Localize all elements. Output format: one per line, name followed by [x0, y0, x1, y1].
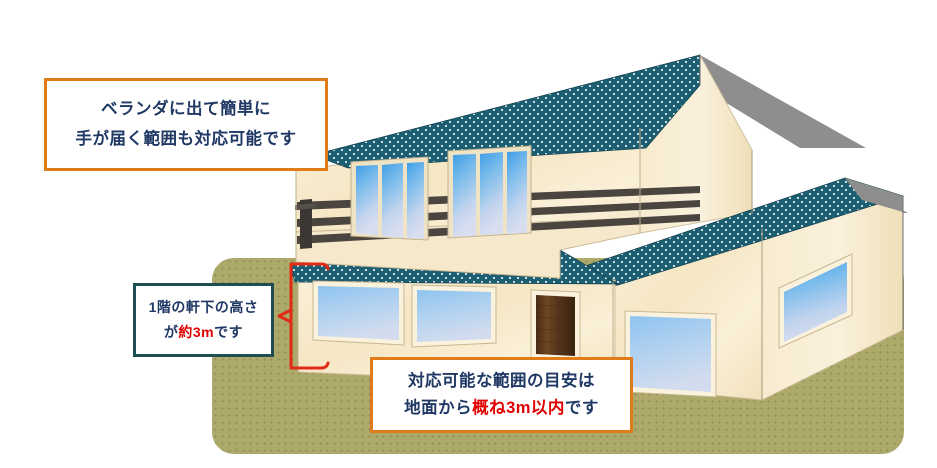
callout-balcony-reach[interactable]: ベランダに出て簡単に 手が届く範囲も対応可能です — [44, 78, 328, 171]
ground-window-right-front — [625, 311, 716, 397]
height-measure-bracket — [277, 258, 337, 380]
illustration-canvas: ベランダに出て簡単に 手が届く範囲も対応可能です 1階の軒下の高さ が約3mです… — [0, 0, 937, 468]
ground-window-left-2 — [412, 285, 496, 347]
callout-eaves-line2-suffix: です — [214, 324, 243, 340]
callout-range-line2-emphasis: 概ね3m以内 — [472, 399, 565, 417]
callout-range-line1: 対応可能な範囲の目安は — [373, 372, 630, 391]
callout-reach-range[interactable]: 対応可能な範囲の目安は 地面から概ね3m以内です — [370, 357, 633, 433]
callout-eaves-line2-prefix: が — [164, 324, 179, 340]
upper-window-group-right — [448, 146, 531, 238]
upper-window-group-left — [351, 157, 428, 240]
callout-eaves-line1: 1階の軒下の高さ — [136, 299, 271, 316]
callout-range-line2-prefix: 地面から — [404, 399, 472, 417]
callout-eaves-line2: が約3mです — [136, 324, 271, 341]
callout-range-line2-suffix: です — [565, 399, 599, 417]
callout-balcony-line1: ベランダに出て簡単に — [47, 100, 325, 119]
callout-eaves-height[interactable]: 1階の軒下の高さ が約3mです — [133, 283, 274, 357]
callout-eaves-line2-emphasis: 約3m — [178, 324, 214, 340]
callout-range-line2: 地面から概ね3m以内です — [373, 399, 630, 418]
callout-balcony-line2: 手が届く範囲も対応可能です — [47, 130, 325, 149]
entrance-door — [531, 290, 580, 360]
